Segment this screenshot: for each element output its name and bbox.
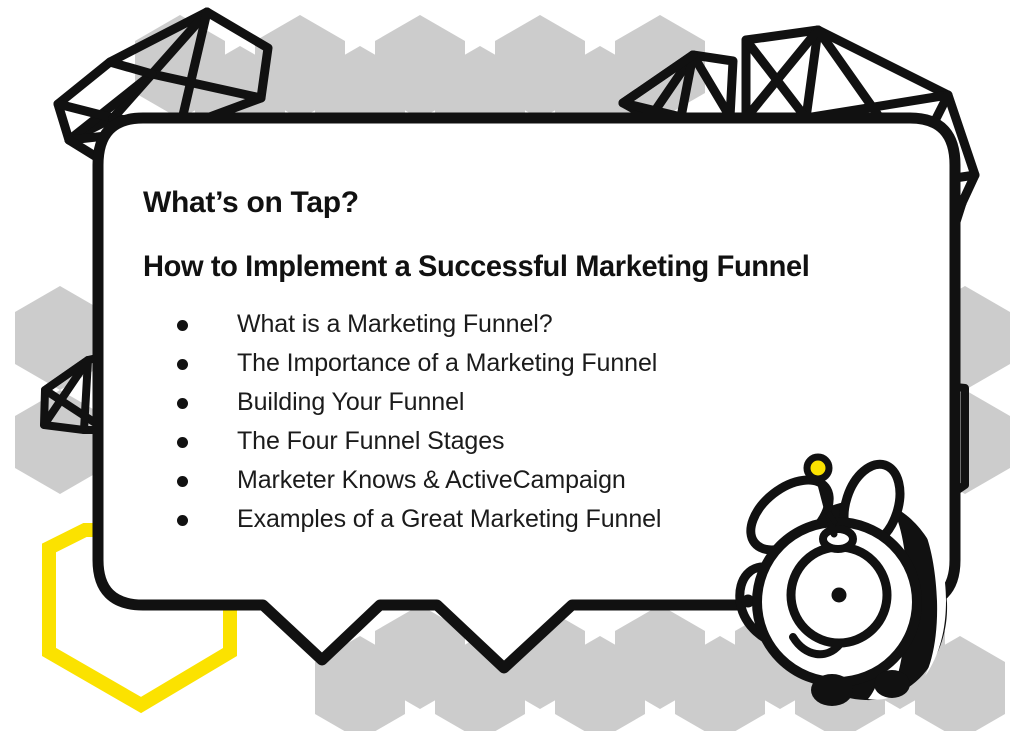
slide-canvas: What’s on Tap? How to Implement a Succes…	[0, 0, 1024, 731]
slide-artwork	[0, 0, 1024, 731]
